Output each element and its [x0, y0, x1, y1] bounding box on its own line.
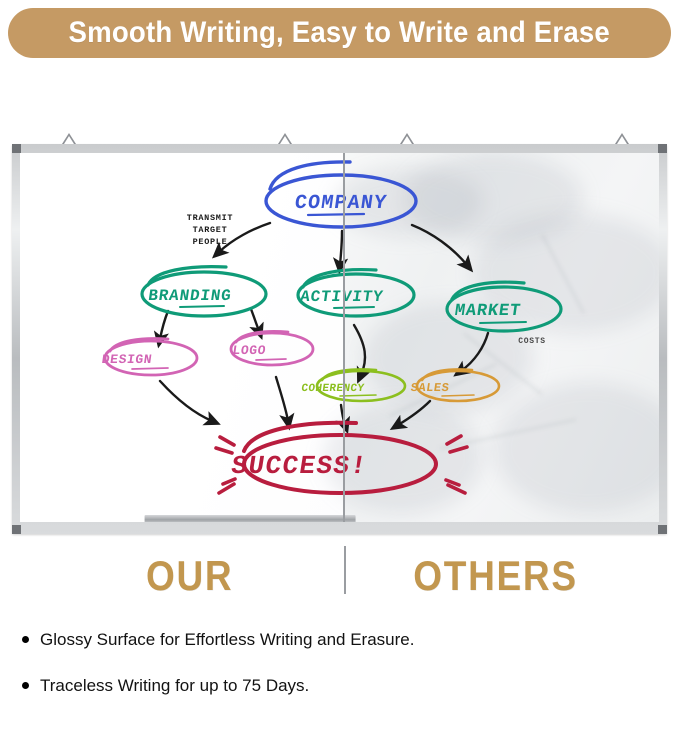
arrow-activity-to-coherency [354, 325, 365, 375]
svg-text:COMPANY: COMPANY [293, 192, 389, 215]
node-sales: SALES [410, 369, 499, 401]
arrow-company-to-market [412, 225, 467, 265]
feature-text: Glossy Surface for Effortless Writing an… [40, 628, 414, 652]
frame-corner [12, 144, 21, 153]
comparison-divider-tick [344, 546, 346, 594]
svg-text:COSTS: COSTS [518, 337, 546, 346]
svg-text:SALES: SALES [410, 381, 450, 395]
svg-text:COHERENCY: COHERENCY [301, 383, 366, 395]
mount-bracket-icon [62, 133, 76, 144]
feature-list: Glossy Surface for Effortless Writing an… [22, 628, 442, 720]
comparison-labels: OUR OTHERS [12, 552, 667, 608]
frame-corner [658, 525, 667, 534]
mount-bracket-icon [615, 133, 629, 144]
frame-corner [658, 144, 667, 153]
header-banner: Smooth Writing, Easy to Write and Erase [8, 8, 671, 58]
whiteboard-surface: COMPANY BRANDING ACTIVITY [20, 153, 659, 522]
svg-text:SUCCESS!: SUCCESS! [229, 451, 370, 481]
svg-text:TRANSMIT: TRANSMIT [187, 213, 233, 223]
comparison-divider-line [343, 153, 345, 522]
arrow-market-to-sales [461, 333, 488, 371]
annotation-costs: COSTS [518, 337, 546, 346]
node-branding: BRANDING [142, 267, 266, 316]
svg-text:LOGO: LOGO [231, 343, 267, 358]
node-company: COMPANY [266, 162, 416, 227]
node-market: MARKET [447, 282, 561, 331]
node-design: DESIGN [101, 339, 197, 376]
svg-text:MARKET: MARKET [453, 302, 522, 321]
svg-text:DESIGN: DESIGN [101, 352, 153, 367]
frame-corner [12, 525, 21, 534]
node-logo: LOGO [231, 331, 313, 365]
feature-text: Traceless Writing for up to 75 Days. [40, 674, 309, 698]
mount-bracket-icon [278, 133, 292, 144]
whiteboard: COMPANY BRANDING ACTIVITY [12, 144, 667, 534]
label-our: OUR [146, 552, 233, 600]
svg-text:ACTIVITY: ACTIVITY [299, 288, 385, 306]
arrow-branding-to-design [160, 311, 168, 339]
svg-text:BRANDING: BRANDING [147, 287, 233, 305]
svg-text:PEOPLE: PEOPLE [193, 237, 228, 247]
list-item: Glossy Surface for Effortless Writing an… [22, 628, 442, 652]
label-others: OTHERS [413, 552, 578, 600]
list-item: Traceless Writing for up to 75 Days. [22, 674, 442, 698]
bullet-dot-icon [22, 682, 29, 689]
header-banner-title: Smooth Writing, Easy to Write and Erase [69, 16, 610, 50]
node-activity: ACTIVITY [298, 270, 414, 316]
node-coherency: COHERENCY [301, 369, 405, 401]
svg-text:TARGET: TARGET [193, 225, 228, 235]
bullet-dot-icon [22, 636, 29, 643]
mount-bracket-icon [400, 133, 414, 144]
node-success: SUCCESS! [216, 423, 467, 493]
arrow-logo-to-success [276, 377, 288, 421]
annotation-transmit: TRANSMIT TARGET PEOPLE [187, 213, 233, 247]
arrow-design-to-success [160, 381, 212, 421]
arrow-company-to-activity [340, 231, 342, 265]
arrow-sales-to-success [398, 401, 430, 425]
whiteboard-diagram: COMPANY BRANDING ACTIVITY [20, 153, 659, 522]
arrow-branding-to-logo [251, 309, 259, 331]
pen-tray [145, 515, 356, 522]
